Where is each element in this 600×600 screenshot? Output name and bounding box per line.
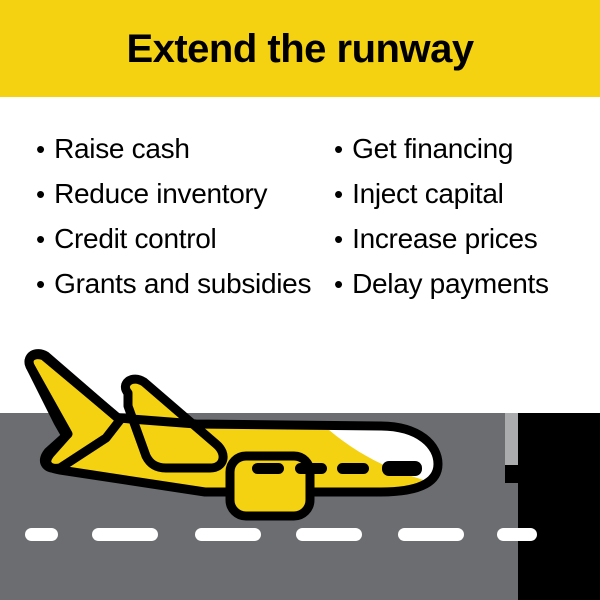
- header-banner: Extend the runway: [0, 0, 600, 97]
- tactic-label: Credit control: [54, 223, 216, 255]
- illustration-svg: [0, 340, 600, 600]
- control-tower-column: [532, 483, 600, 600]
- infographic-card: Extend the runway • Raise cash • Reduce …: [0, 0, 600, 600]
- list-item: • Raise cash: [36, 133, 336, 178]
- list-item: • Increase prices: [334, 223, 600, 268]
- list-item: • Inject capital: [334, 178, 600, 223]
- list-item: • Get financing: [334, 133, 600, 178]
- tactic-label: Increase prices: [352, 223, 537, 255]
- control-tower: [505, 413, 600, 600]
- list-item: • Reduce inventory: [36, 178, 336, 223]
- runway-dash: [25, 528, 58, 541]
- runway-dash: [497, 528, 537, 541]
- bullet-icon: •: [334, 226, 343, 252]
- tactics-column-left: • Raise cash • Reduce inventory • Credit…: [36, 133, 336, 313]
- list-item: • Grants and subsidies: [36, 268, 336, 313]
- runway-dash: [92, 528, 158, 541]
- bullet-icon: •: [36, 226, 45, 252]
- list-item: • Delay payments: [334, 268, 600, 313]
- tactic-label: Delay payments: [352, 268, 549, 300]
- control-tower-mast: [505, 413, 518, 465]
- runway-dash: [195, 528, 261, 541]
- airplane-on-runway-illustration: [0, 340, 600, 600]
- tactic-label: Inject capital: [352, 178, 503, 210]
- runway-dash: [398, 528, 464, 541]
- tactics-column-right: • Get financing • Inject capital • Incre…: [334, 133, 600, 313]
- tactic-label: Grants and subsidies: [54, 268, 311, 300]
- bullet-icon: •: [36, 136, 45, 162]
- tactics-section: • Raise cash • Reduce inventory • Credit…: [0, 97, 600, 340]
- list-item: • Credit control: [36, 223, 336, 268]
- bullet-icon: •: [334, 136, 343, 162]
- airplane-window: [295, 463, 327, 474]
- bullet-icon: •: [334, 181, 343, 207]
- airplane-window: [337, 463, 369, 474]
- bullet-icon: •: [36, 181, 45, 207]
- airplane-window: [252, 463, 284, 474]
- tactic-label: Reduce inventory: [54, 178, 267, 210]
- control-tower-base-ledge: [505, 465, 532, 483]
- runway-dash: [296, 528, 362, 541]
- airplane-cockpit-window: [382, 461, 422, 476]
- tactic-label: Raise cash: [54, 133, 190, 165]
- bullet-icon: •: [334, 271, 343, 297]
- tactic-label: Get financing: [352, 133, 513, 165]
- page-title: Extend the runway: [116, 27, 483, 71]
- bullet-icon: •: [36, 271, 45, 297]
